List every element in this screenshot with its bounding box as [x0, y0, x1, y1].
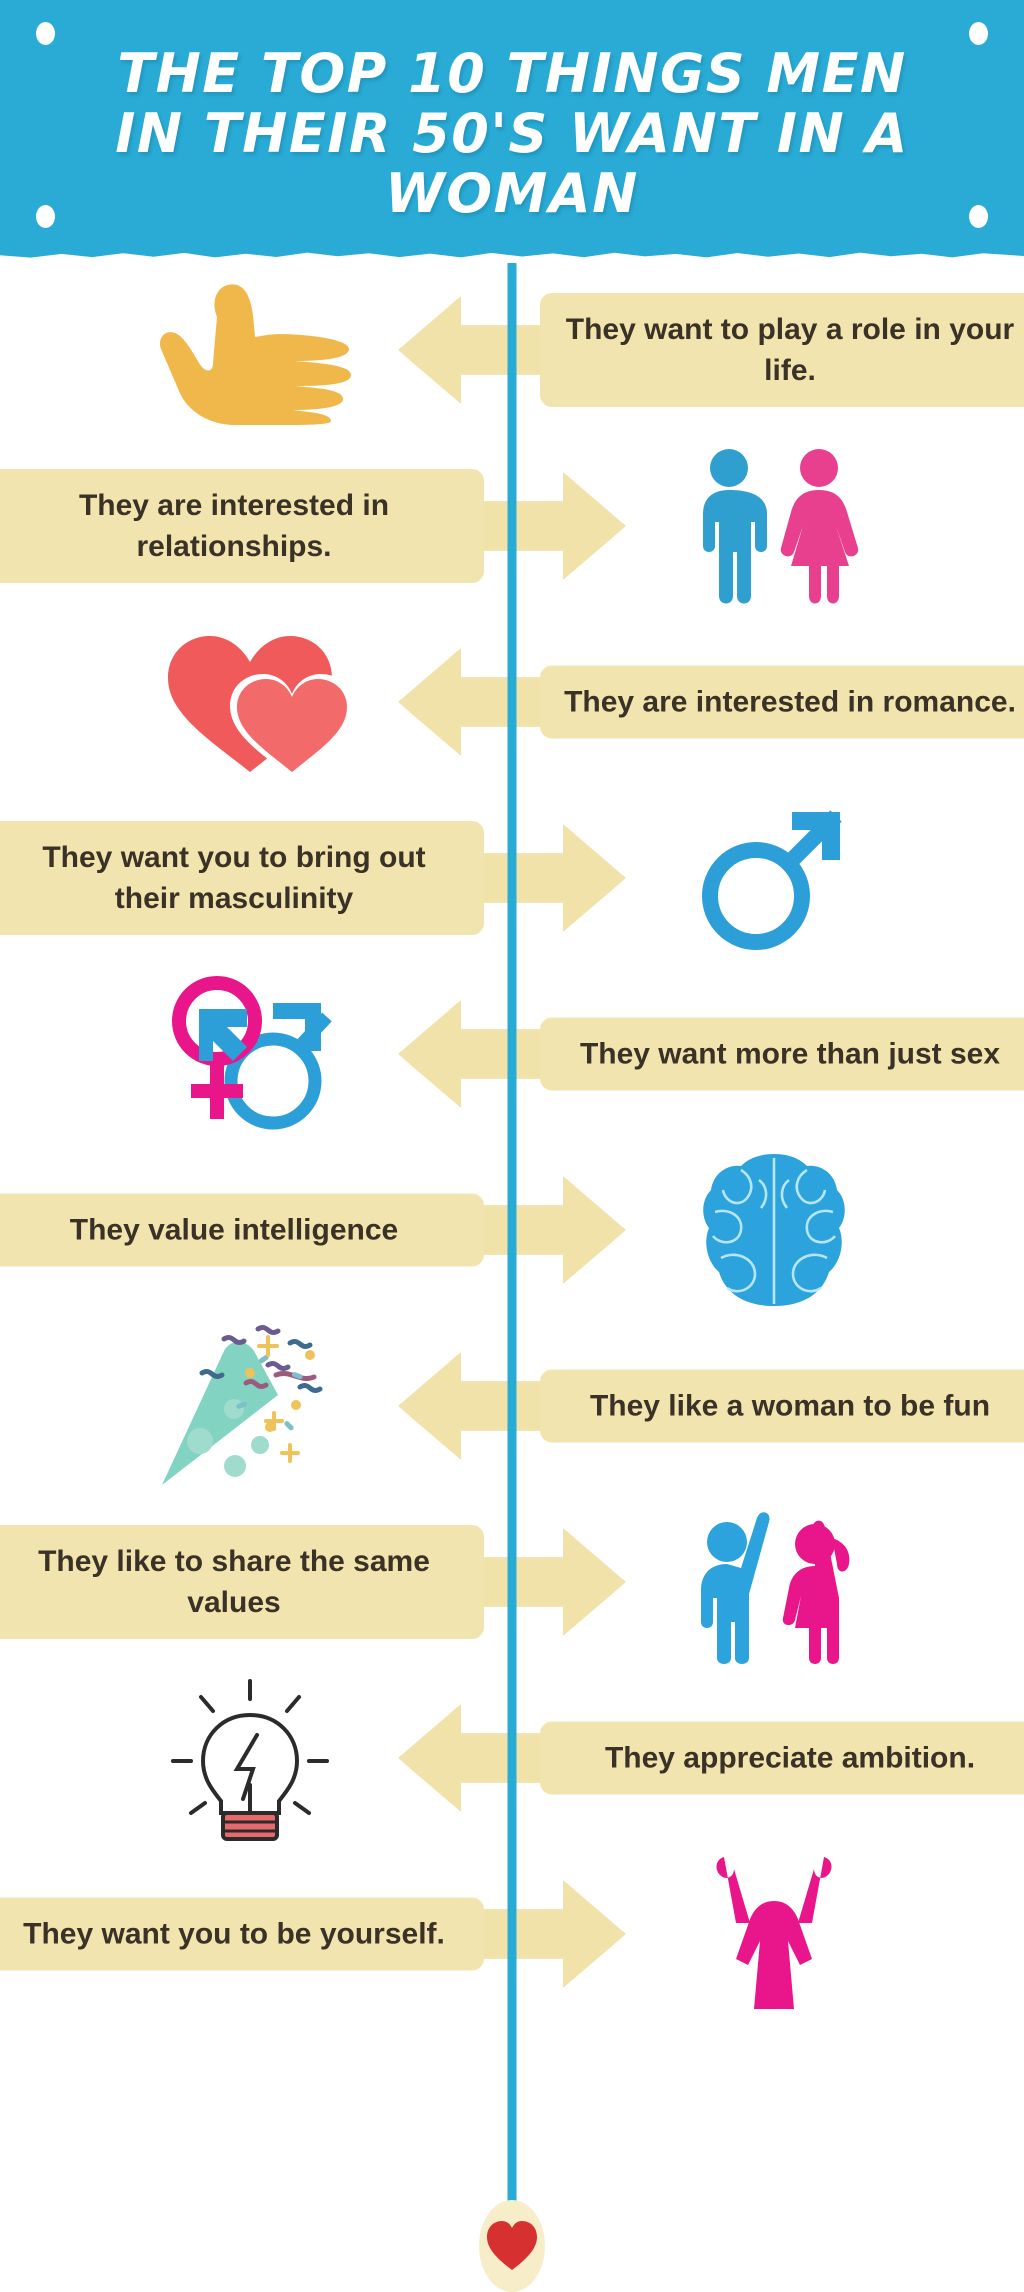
page-title-line-3: WOMAN: [385, 164, 639, 224]
arrow-left-icon: [398, 1352, 548, 1460]
arrow-left-icon: [398, 1000, 548, 1108]
header-title-block: THE TOP 10 THINGS MEN IN THEIR 50'S WANT…: [0, 0, 1024, 262]
item-text: They want more than just sex: [540, 1018, 1024, 1091]
item-text: They want to play a role in your life.: [540, 293, 1024, 407]
item-text: They want you to be yourself.: [0, 1898, 484, 1971]
corner-dot-top-left-icon: [36, 22, 55, 45]
hand-icon: [125, 266, 375, 434]
high-five-couple-icon: [649, 1498, 899, 1666]
item-text: They value intelligence: [0, 1194, 484, 1267]
footer-heart-badge: [479, 2200, 545, 2292]
arrow-right-icon: [476, 824, 626, 932]
lightbulb-icon: [125, 1674, 375, 1842]
two-hearts-icon: [125, 618, 375, 786]
item-text: They appreciate ambition.: [540, 1722, 1024, 1795]
venus-mars-interlocked-icon: [125, 970, 375, 1138]
item-text: They like a woman to be fun: [540, 1370, 1024, 1443]
page-title-line-2: IN THEIR 50'S WANT IN A: [115, 104, 908, 164]
item-text: They are interested in relationships.: [0, 469, 484, 583]
arrow-right-icon: [476, 472, 626, 580]
page-title-line-1: THE TOP 10 THINGS MEN: [117, 44, 906, 104]
man-woman-pair-icon: [649, 442, 899, 610]
arrow-left-icon: [398, 1704, 548, 1812]
header-banner: THE TOP 10 THINGS MEN IN THEIR 50'S WANT…: [0, 0, 1024, 262]
corner-dot-bottom-right-icon: [969, 205, 988, 228]
arrow-right-icon: [476, 1176, 626, 1284]
arrow-right-icon: [476, 1880, 626, 1988]
item-text: They want you to bring out their masculi…: [0, 821, 484, 935]
arrow-left-icon: [398, 648, 548, 756]
heart-icon: [484, 2218, 540, 2274]
celebrating-woman-icon: [649, 1850, 899, 2018]
corner-dot-bottom-left-icon: [36, 205, 55, 228]
brain-icon: [649, 1146, 899, 1314]
corner-dot-top-right-icon: [969, 22, 988, 45]
mars-symbol-icon: [649, 794, 899, 962]
party-popper-icon: [125, 1322, 375, 1490]
arrow-right-icon: [476, 1528, 626, 1636]
item-text: They are interested in romance.: [540, 666, 1024, 739]
arrow-left-icon: [398, 296, 548, 404]
item-text: They like to share the same values: [0, 1525, 484, 1639]
center-divider-line: [508, 258, 517, 2266]
